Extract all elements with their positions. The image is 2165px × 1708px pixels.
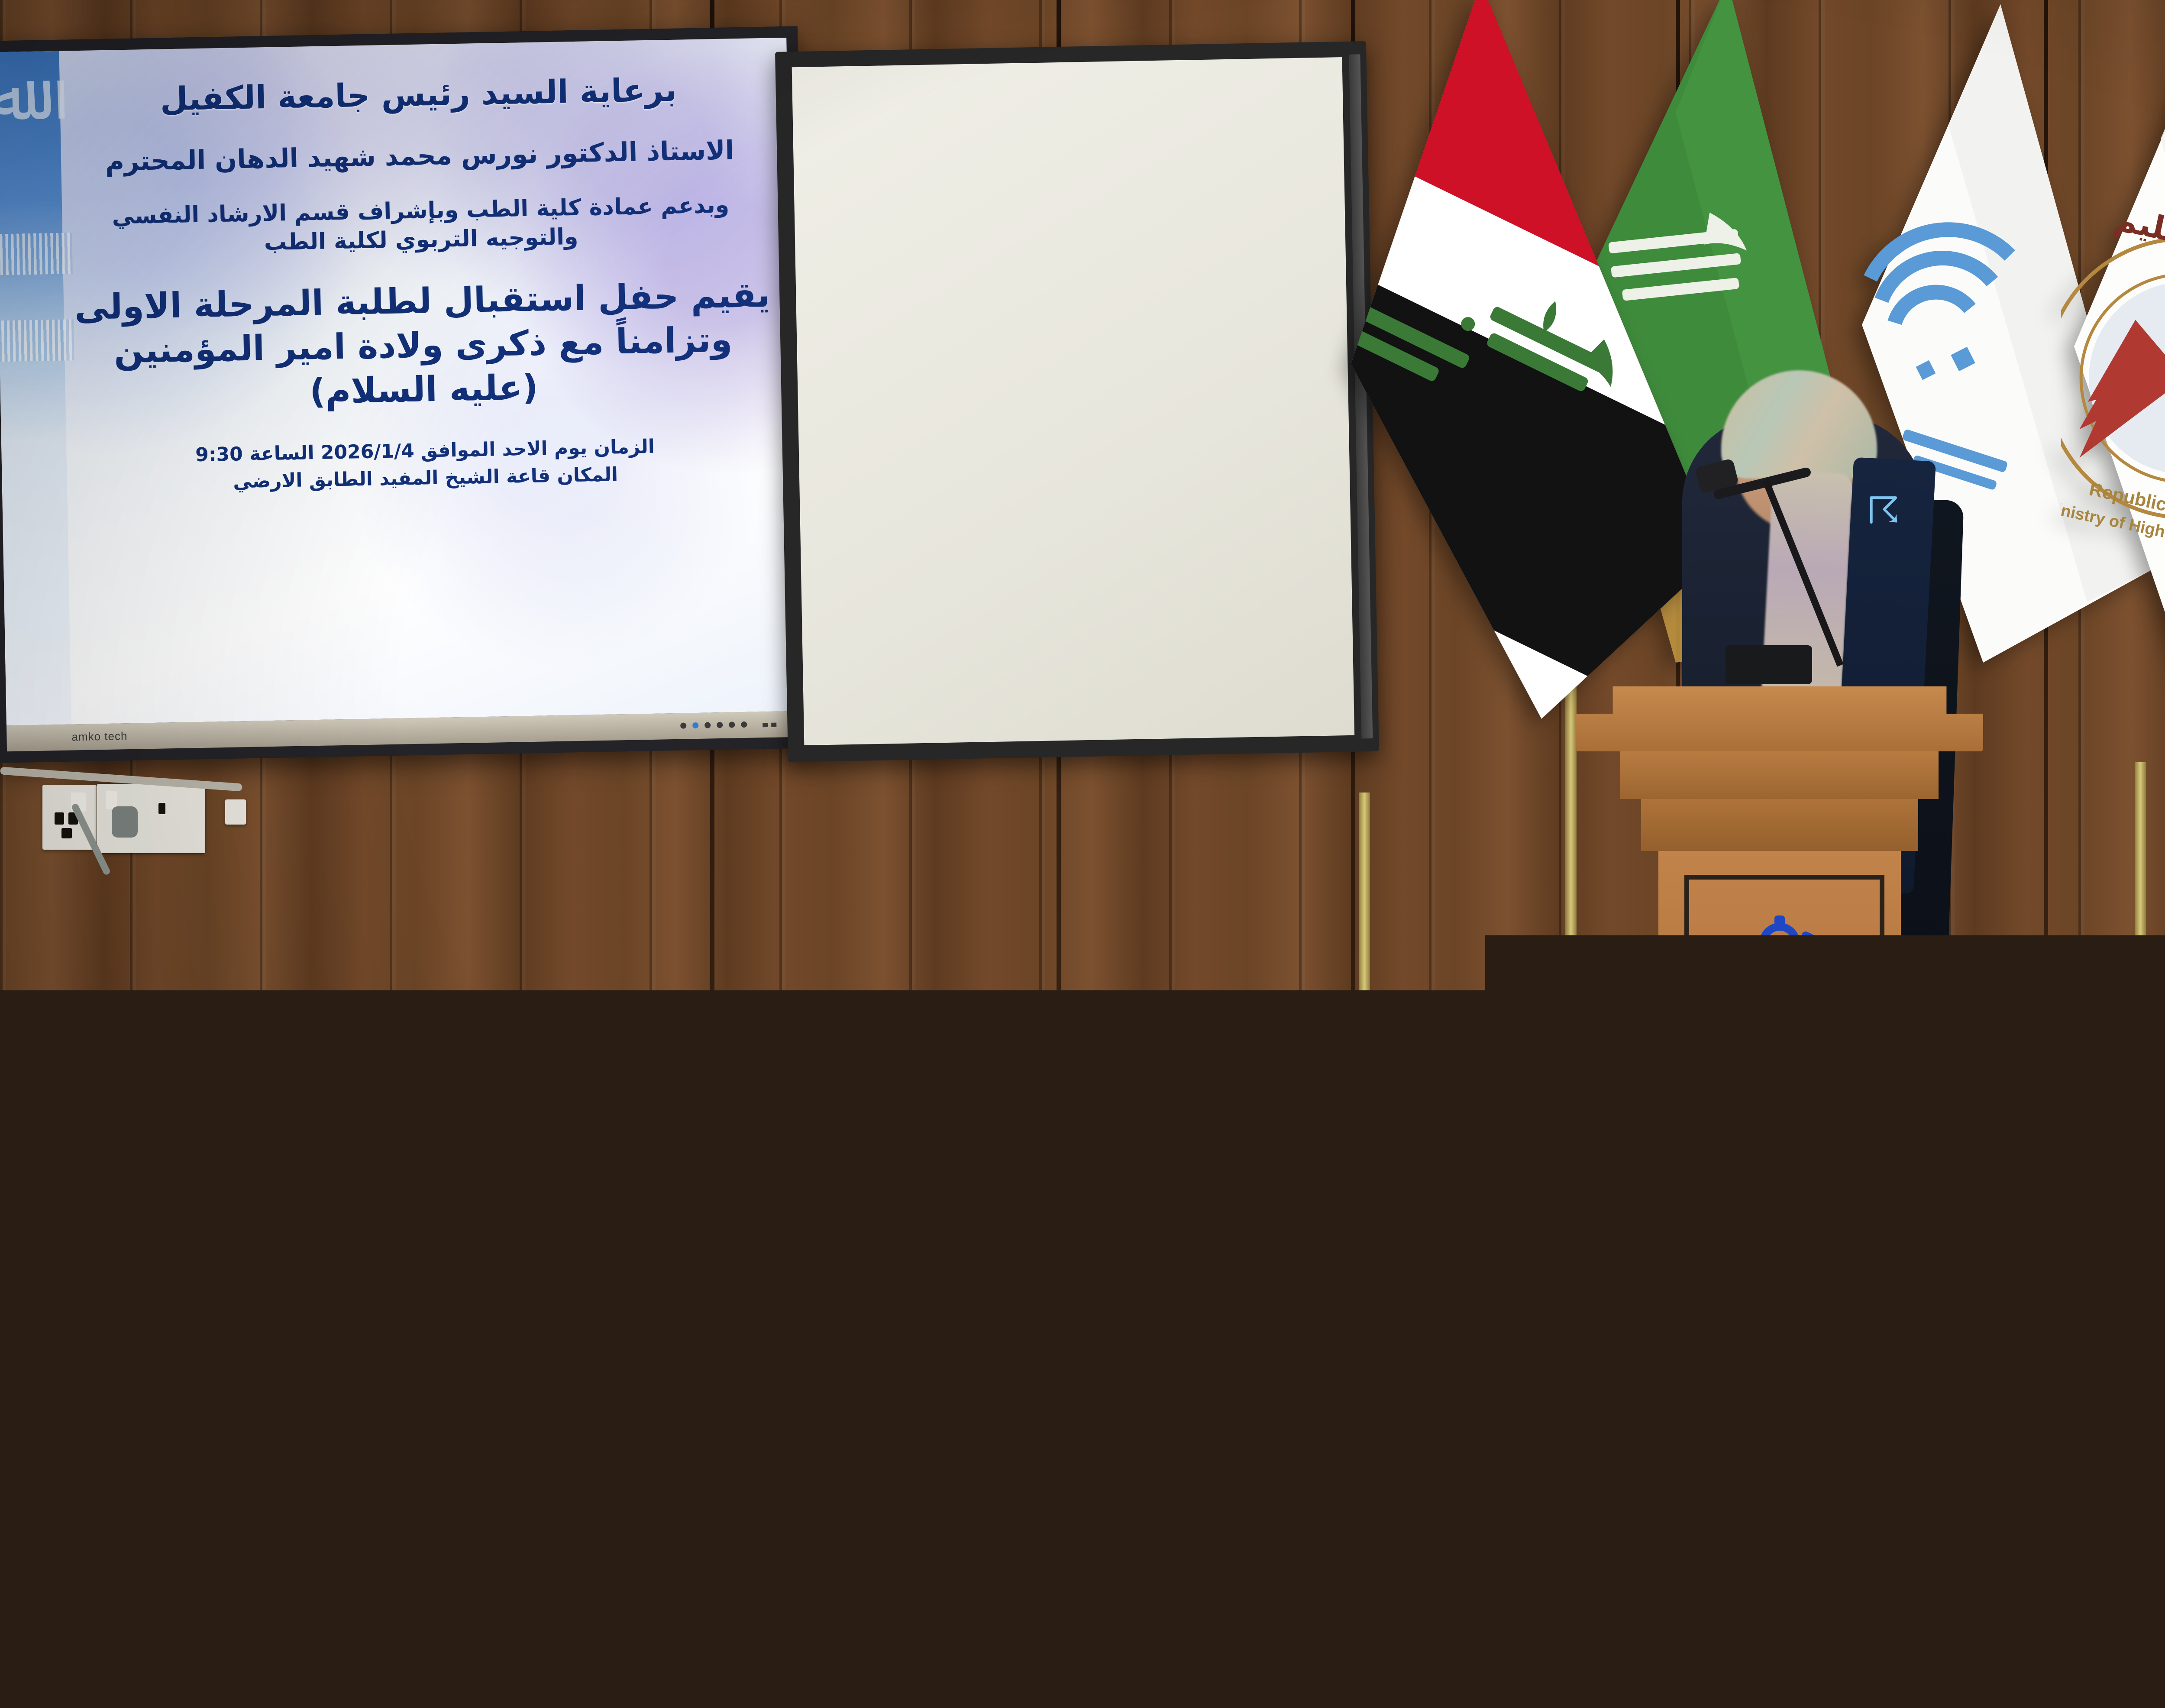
ornament-band bbox=[0, 233, 73, 275]
calligraphy-ornament-icon: ﷲ bbox=[0, 64, 66, 208]
power-plug bbox=[112, 806, 138, 838]
multirank-dot bbox=[1737, 1600, 1782, 1645]
audience-head-foreground bbox=[1178, 1295, 1403, 1537]
qs-star-rating: ★ ★ ★ ★ ★ bbox=[26, 1651, 173, 1692]
chair-back bbox=[1948, 1438, 2165, 1693]
star-icon: ★ bbox=[87, 1658, 112, 1685]
photograph-scene: Rashim Door ﷲ برعاية السيد رئيس جامعة ا bbox=[0, 0, 2165, 1708]
socket-hole bbox=[55, 812, 64, 825]
podium-neck-lower bbox=[1641, 799, 1918, 851]
ieu-label: IEU bbox=[1875, 1627, 1952, 1672]
globally-badge: GLOBALLY bbox=[385, 1572, 491, 1595]
star-icon: ★ bbox=[117, 1658, 142, 1685]
audience-head bbox=[1472, 1122, 1624, 1295]
display-port-row bbox=[763, 723, 776, 728]
interactive-display[interactable]: ﷲ برعاية السيد رئيس جامعة الكفيل الاستاذ… bbox=[0, 26, 811, 763]
wall-blank-plate bbox=[225, 799, 246, 825]
display-power-button[interactable] bbox=[692, 722, 698, 728]
whiteboard[interactable] bbox=[775, 41, 1379, 762]
display-button[interactable] bbox=[680, 722, 686, 728]
podium-top bbox=[1576, 686, 1983, 751]
the-wordmark: T H E bbox=[381, 1641, 497, 1692]
display-button[interactable] bbox=[741, 721, 747, 728]
chair-back bbox=[567, 1451, 896, 1693]
multirank-letter: u bbox=[1724, 1606, 1758, 1640]
star-icon: ★ bbox=[58, 1658, 82, 1685]
ieu-seal-icon bbox=[1797, 1609, 1866, 1689]
slide-line-patronage: برعاية السيد رئيس جامعة الكفيل bbox=[60, 68, 777, 121]
multirank-dot bbox=[1713, 1600, 1759, 1645]
socket-switch[interactable] bbox=[106, 791, 117, 809]
the-letter-h: H bbox=[417, 1641, 459, 1692]
iraq-flag bbox=[1338, 0, 1728, 745]
slide-text-block: برعاية السيد رئيس جامعة الكفيل الاستاذ ا… bbox=[59, 51, 788, 720]
presentation-slide: ﷲ برعاية السيد رئيس جامعة الكفيل الاستاذ… bbox=[0, 38, 799, 725]
audience-head bbox=[338, 1135, 494, 1312]
ornament-band bbox=[0, 319, 74, 362]
microphone-base bbox=[1726, 645, 1812, 684]
audience-head bbox=[1732, 1139, 1879, 1308]
qs-star-cell: ★ bbox=[56, 1651, 84, 1692]
display-button[interactable] bbox=[717, 722, 723, 728]
display-port bbox=[771, 723, 776, 727]
alkafeel-podium-logo-icon bbox=[1713, 909, 1847, 1009]
whiteboard-surface[interactable] bbox=[792, 57, 1354, 745]
star-icon: ★ bbox=[28, 1658, 52, 1685]
podium-label: جامعة الكفيل bbox=[1706, 1016, 1853, 1039]
qs-category-label: TEACHING bbox=[95, 1608, 236, 1643]
audience-head-foreground bbox=[1593, 1351, 1819, 1594]
ministry-flag: وزارة التعليم Republic of Iraq Ministry … bbox=[2061, 17, 2165, 754]
the-letter-t: T bbox=[381, 1641, 417, 1692]
display-button[interactable] bbox=[704, 722, 711, 728]
star-icon: ★ bbox=[147, 1658, 171, 1685]
socket-hole bbox=[158, 803, 165, 814]
display-brand-label: amko tech bbox=[71, 729, 127, 744]
locally-badge: LOCALLY bbox=[1787, 1572, 1880, 1595]
slide-line-president-name: الاستاذ الدكتور نورس محمد شهيد الدهان ال… bbox=[61, 133, 778, 179]
multirank-dot bbox=[1743, 1600, 1789, 1645]
ieu-gear-icon bbox=[1812, 1629, 1852, 1669]
display-port bbox=[763, 723, 768, 727]
alkafeel-crest-icon: ☈ bbox=[1858, 485, 1910, 537]
ieu-logo: IEU bbox=[1797, 1609, 1952, 1689]
qs-star-cell: ★ bbox=[86, 1651, 113, 1692]
multirank-dot bbox=[1725, 1600, 1770, 1645]
socket-hole bbox=[61, 828, 72, 838]
slide-line-support: وبدعم عمادة كلية الطب وبإشراف قسم الارشا… bbox=[62, 190, 780, 262]
display-button-row[interactable] bbox=[680, 721, 747, 729]
the-letter-e: E bbox=[459, 1641, 497, 1692]
slide-line-event: يقيم حفل استقبال لطلبة المرحلة الاولى وت… bbox=[63, 272, 782, 418]
display-button[interactable] bbox=[729, 721, 735, 728]
qs-star-cell: ★ bbox=[26, 1651, 54, 1692]
qs-star-cell: ★ bbox=[145, 1651, 173, 1692]
qs-star-cell: ★ bbox=[116, 1651, 143, 1692]
audience-head bbox=[823, 1104, 979, 1282]
podium-neck bbox=[1620, 751, 1939, 799]
audience-head-with-cap bbox=[1013, 1083, 1113, 1200]
